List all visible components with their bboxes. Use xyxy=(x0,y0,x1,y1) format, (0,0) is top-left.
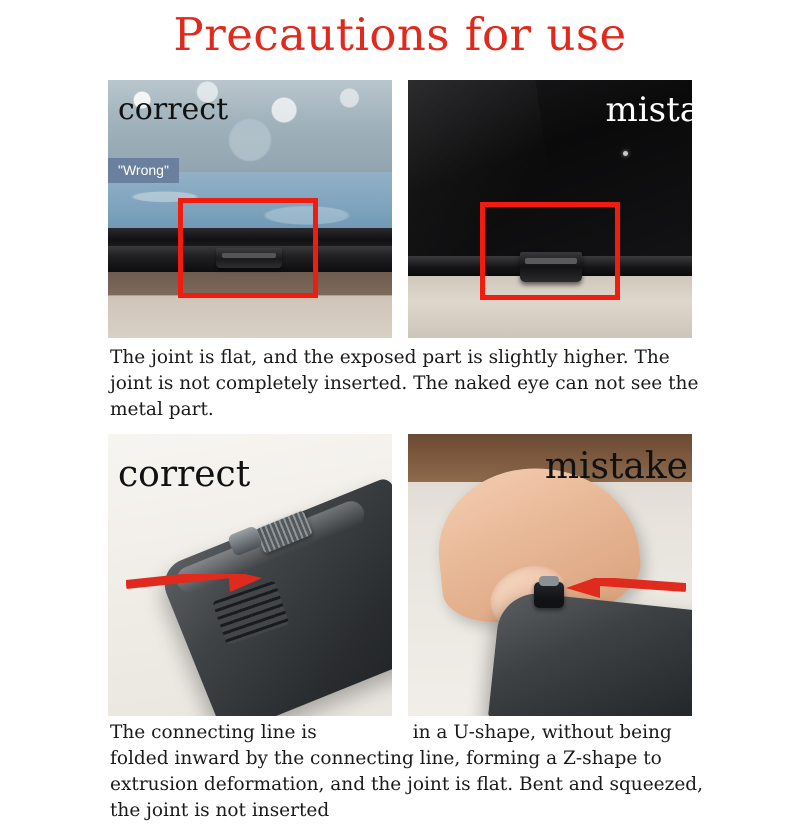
photo-mistake-bottom: mistake xyxy=(408,434,692,716)
red-highlight-box xyxy=(480,202,620,300)
device-body xyxy=(488,590,692,716)
wrong-overlay-tag: "Wrong" xyxy=(108,158,179,183)
photo-correct-bottom: correct xyxy=(108,434,392,716)
photo-correct-top: correct "Wrong" xyxy=(108,80,392,338)
precautions-page: Precautions for use correct "Wrong" mist… xyxy=(0,0,800,800)
red-arrow-icon xyxy=(566,578,686,598)
red-arrow-icon xyxy=(126,574,266,594)
label-correct-top: correct xyxy=(118,92,228,127)
caption-bottom-part-a: The connecting line is xyxy=(110,722,317,743)
caption-top: The joint is flat, and the exposed part … xyxy=(110,345,700,423)
camera-dot-icon xyxy=(623,151,628,156)
label-mistake-bottom: mistake xyxy=(545,446,688,487)
photo-mistake-top: mista xyxy=(408,80,692,338)
label-correct-bottom: correct xyxy=(118,454,250,495)
label-mistake-top: mista xyxy=(606,90,693,130)
page-title: Precautions for use xyxy=(0,8,800,61)
red-highlight-box xyxy=(178,198,318,298)
connector-plug xyxy=(534,582,564,608)
caption-bottom: The connecting line isin a U-shape, with… xyxy=(110,720,710,824)
